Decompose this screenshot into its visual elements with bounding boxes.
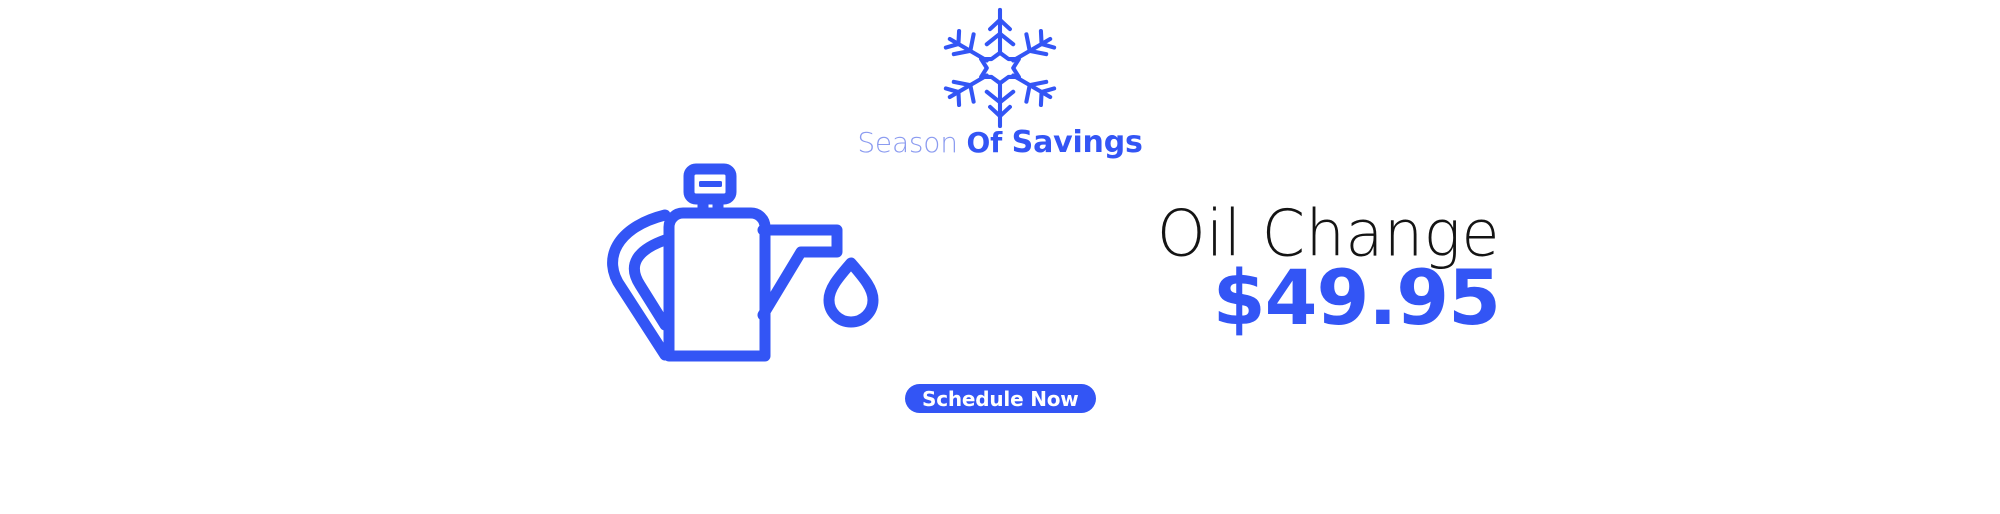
logo-wordmark: Season Of Savings xyxy=(857,128,1142,158)
offer-title: Oil Change xyxy=(1120,203,1500,266)
logo-word-savings: Savings xyxy=(1012,125,1143,160)
season-of-savings-logo: Season Of Savings xyxy=(860,2,1140,182)
promo-banner: Season Of Savings xyxy=(0,0,2000,514)
logo-word-of: Of xyxy=(967,126,1003,159)
oil-can-illustration xyxy=(585,155,885,370)
snowflake-icon xyxy=(934,2,1066,134)
offer-price: $49.95 xyxy=(1120,262,1500,334)
oil-can-icon xyxy=(585,155,885,370)
offer-block: Oil Change $49.95 xyxy=(1120,205,1500,334)
oil-droplet-icon xyxy=(829,263,873,322)
logo-space-1 xyxy=(958,126,967,159)
logo-space-2 xyxy=(1002,126,1012,159)
schedule-now-button[interactable]: Schedule Now xyxy=(905,384,1096,413)
